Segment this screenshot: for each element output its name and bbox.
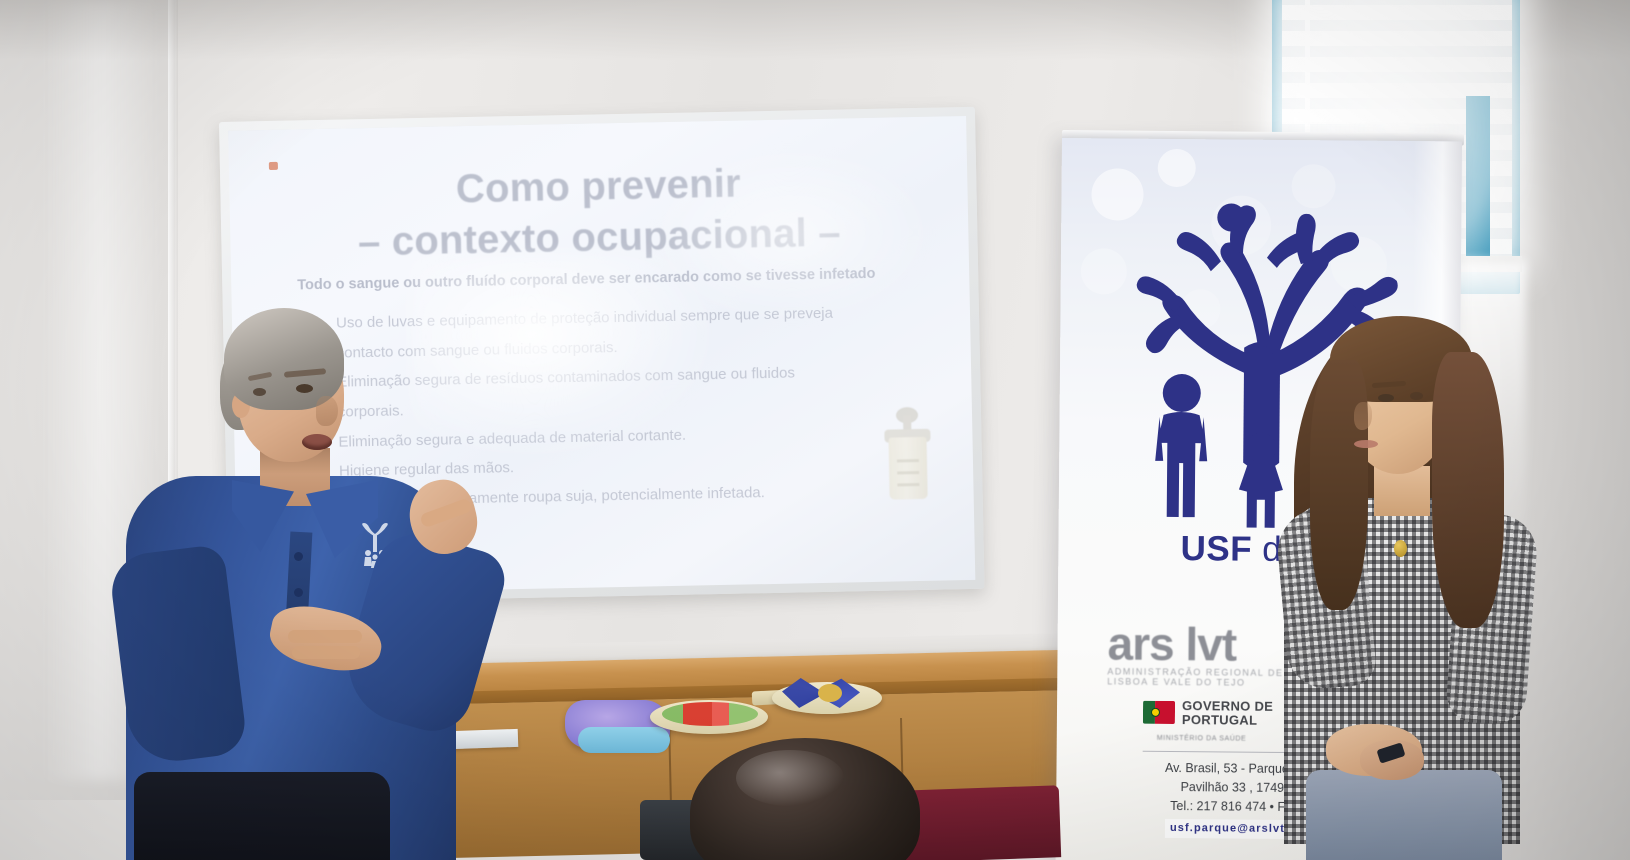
assistant-hair-right <box>1432 352 1504 628</box>
assistant-brooch-pin <box>1394 540 1407 557</box>
whiteboard-glare-secondary <box>649 147 932 323</box>
presenter-nose <box>316 396 338 426</box>
plate-contents-left <box>662 702 758 726</box>
government-text: GOVERNO DE PORTUGAL <box>1182 699 1273 727</box>
audience-hair-highlight <box>736 750 844 806</box>
presenter-skirt <box>134 772 390 860</box>
government-ministry-tag: MINISTÉRIO DA SAÚDE <box>1157 735 1247 743</box>
portugal-flag-icon <box>1143 701 1175 724</box>
presenter-polo-button <box>294 552 303 561</box>
assistant-hair-left <box>1310 360 1368 610</box>
ribbon-gold-center <box>818 684 842 702</box>
assistant-mouth <box>1354 440 1378 448</box>
photo-scene: Como prevenir – contexto ocupacional – T… <box>0 0 1630 860</box>
table-item-blue-cloth <box>578 727 670 753</box>
presenter-polo-button <box>294 588 303 597</box>
assistant-eye-far <box>1410 392 1423 400</box>
presenter-left-finger <box>288 630 362 643</box>
assistant-nose <box>1354 402 1372 430</box>
presenter-speaking <box>120 300 490 860</box>
government-line2: PORTUGAL <box>1182 713 1273 727</box>
presenter-hair <box>224 308 344 410</box>
government-logo: GOVERNO DE PORTUGAL <box>1143 699 1273 727</box>
banner-divider <box>1143 751 1293 753</box>
assistant-eye-near <box>1378 394 1394 402</box>
presenter-eye-right <box>296 384 313 393</box>
assistant-trousers <box>1306 770 1502 860</box>
presenter-eye-left <box>253 388 266 396</box>
audience-chair-right <box>899 785 1061 860</box>
presenter-left-finger <box>292 646 360 659</box>
banner-org-usf: USF <box>1180 529 1252 569</box>
audience-member-foreground <box>690 738 920 860</box>
second-presenter-standing <box>1282 300 1542 860</box>
sharps-container-icon <box>884 407 932 500</box>
presenter-mouth <box>302 434 332 450</box>
